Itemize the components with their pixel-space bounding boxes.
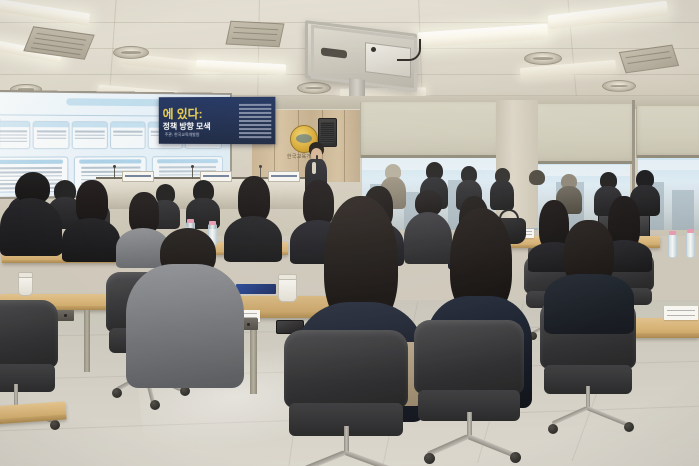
table-leg bbox=[250, 330, 257, 394]
attendee-foreground bbox=[544, 220, 634, 330]
office-chair bbox=[284, 330, 408, 456]
attendee-foreground bbox=[126, 228, 244, 386]
banner-sidetext bbox=[239, 102, 271, 139]
downlight bbox=[113, 46, 149, 59]
ceiling-light bbox=[418, 23, 549, 47]
window-blind[interactable] bbox=[636, 106, 699, 158]
downlight bbox=[524, 52, 562, 65]
water-bottle bbox=[668, 234, 677, 258]
event-banner: 에 있다: 정책 방향 모색 주관: 한국교육개발원 bbox=[159, 97, 276, 144]
ceiling-light bbox=[548, 1, 669, 30]
attendee bbox=[0, 172, 62, 254]
microphone bbox=[316, 155, 318, 163]
office-chair bbox=[0, 300, 58, 410]
banner-title: 에 있다: bbox=[163, 105, 203, 122]
air-vent bbox=[226, 21, 285, 48]
projector-icon bbox=[305, 27, 417, 85]
handout bbox=[664, 306, 698, 320]
coffee-cup bbox=[278, 276, 297, 302]
office-chair bbox=[414, 320, 524, 440]
window-blind[interactable] bbox=[360, 102, 500, 158]
paper-cup bbox=[18, 274, 33, 296]
downlight bbox=[602, 80, 636, 92]
water-bottle bbox=[686, 232, 695, 258]
table-leg bbox=[84, 310, 90, 372]
attendee bbox=[62, 180, 120, 258]
banner-subtitle: 정책 방향 모색 bbox=[163, 121, 211, 132]
banner-footer: 주관: 한국교육개발원 bbox=[165, 132, 200, 138]
ceiling bbox=[0, 0, 699, 104]
seminar-room-photo: 한국교육개발원 bbox=[0, 0, 699, 466]
